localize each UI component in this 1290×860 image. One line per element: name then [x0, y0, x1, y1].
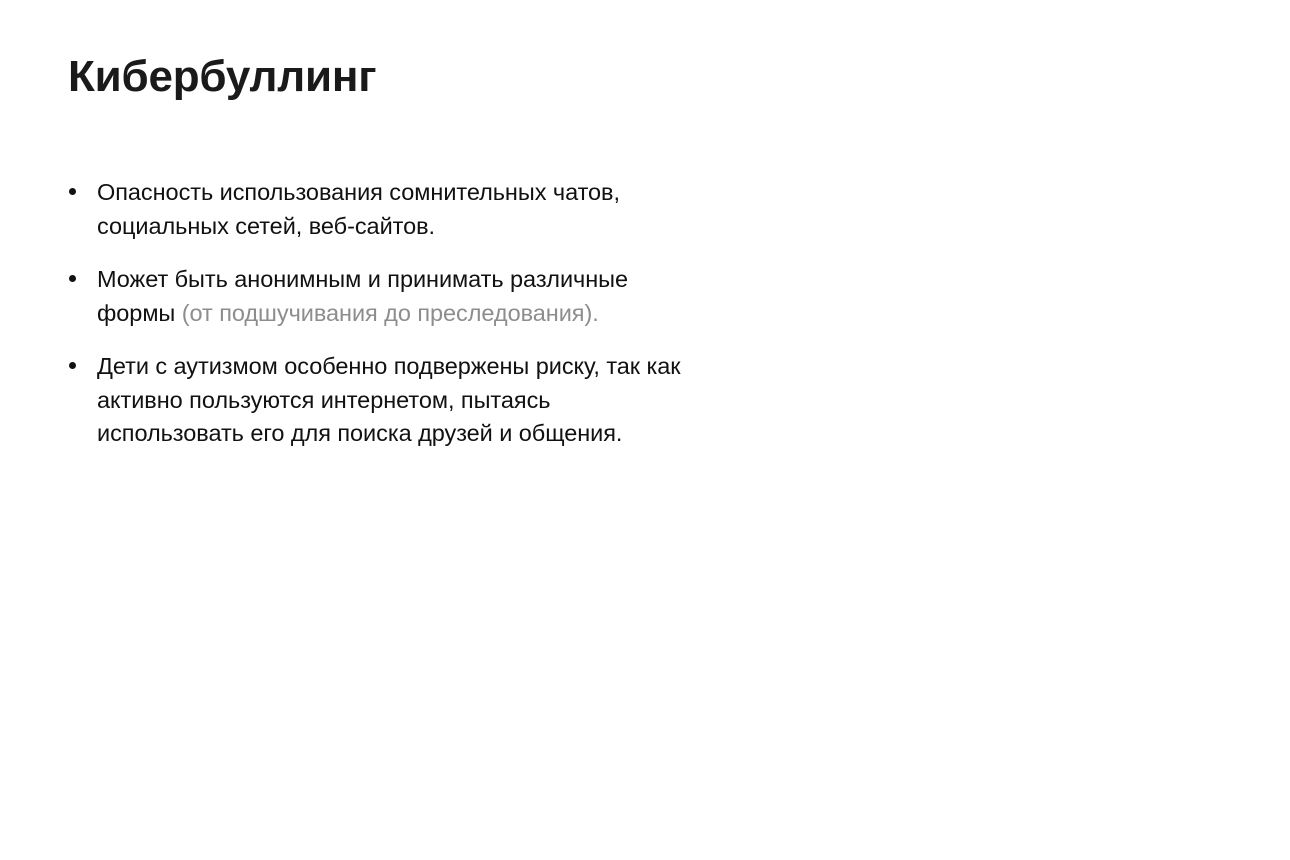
bullet-dot-icon	[69, 362, 76, 369]
bullet-dot-icon	[69, 275, 76, 282]
page-title: Кибербуллинг	[68, 51, 376, 102]
bullet-list: Опасность использования сомнительных чат…	[68, 176, 693, 451]
list-item-note: (от подшучивания до преследования).	[182, 300, 599, 326]
list-item-text: Дети с аутизмом особенно подвержены риск…	[97, 353, 681, 446]
bullet-dot-icon	[69, 188, 76, 195]
list-item: Дети с аутизмом особенно подвержены риск…	[68, 350, 693, 451]
list-item: Может быть анонимным и принимать различн…	[68, 263, 693, 330]
slide-canvas: Кибербуллинг Опасность использования сом…	[0, 0, 1290, 860]
list-item-text: Опасность использования сомнительных чат…	[97, 179, 620, 239]
list-item: Опасность использования сомнительных чат…	[68, 176, 693, 243]
